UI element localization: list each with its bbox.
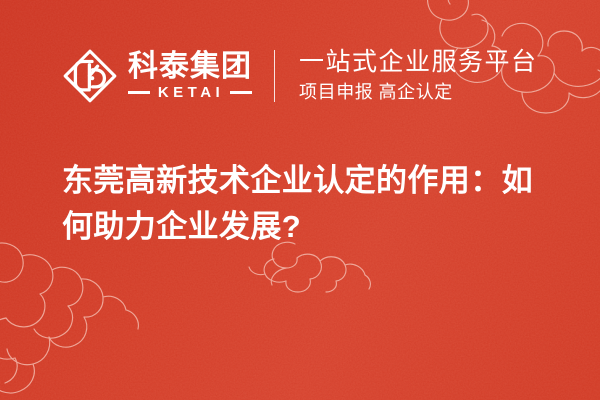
tagline-primary: 一站式企业服务平台 xyxy=(299,48,538,76)
latin-rule-right xyxy=(230,91,252,94)
headline-line-1: 东莞高新技术企业认定的作用：如 xyxy=(62,158,554,204)
tagline-block: 一站式企业服务平台 项目申报 高企认定 xyxy=(299,45,538,107)
latin-rule-left xyxy=(128,91,150,94)
brand-latin-row: KETAI xyxy=(128,85,252,100)
page-title: 东莞高新技术企业认定的作用：如 何助力企业发展? xyxy=(62,158,554,250)
banner-header: 科泰集团 KETAI 一站式企业服务平台 项目申报 高企认定 xyxy=(62,38,538,114)
brand-name-cn: 科泰集团 xyxy=(128,52,252,83)
ketai-diamond-kd-monogram-icon xyxy=(62,48,118,104)
headline-line-2: 何助力企业发展? xyxy=(62,204,554,250)
promo-banner: 科泰集团 KETAI 一站式企业服务平台 项目申报 高企认定 东莞高新技术企业认… xyxy=(0,0,600,400)
tagline-secondary: 项目申报 高企认定 xyxy=(299,82,538,104)
brand-wordmark: 科泰集团 KETAI xyxy=(128,47,252,105)
brand-name-latin: KETAI xyxy=(150,85,230,100)
header-divider xyxy=(274,50,275,102)
brand-lockup[interactable]: 科泰集团 KETAI xyxy=(62,45,252,107)
